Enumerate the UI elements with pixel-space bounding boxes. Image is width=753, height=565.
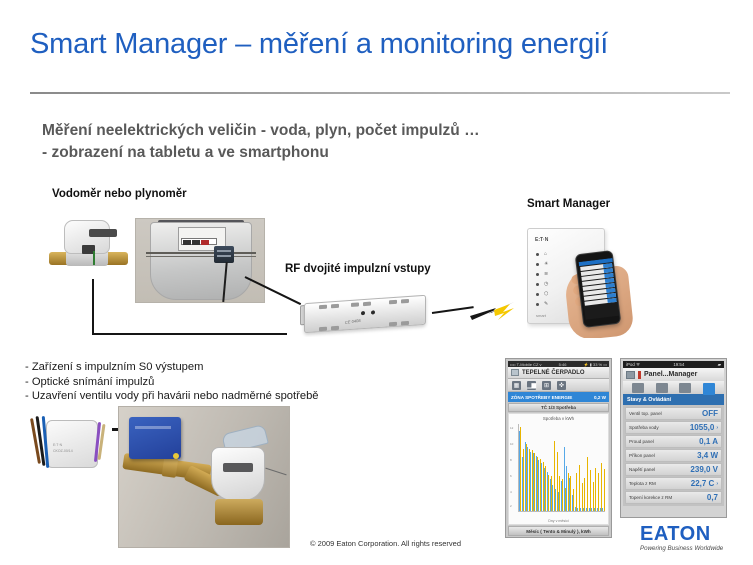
phone-app-header: Panel...Manager [623,368,724,381]
status-row[interactable]: Topení korekce z RM0,7 [625,491,722,504]
wrench-icon[interactable]: ✜ [557,381,566,390]
status-row-label: Proud panel [629,439,654,444]
status-row-value: 0,1 A [699,437,718,446]
status-row-label: Spotřeba vody [629,425,659,430]
tab-bars-icon[interactable] [632,383,644,393]
chart-bar [595,468,596,512]
status-row-value: 0,7 [707,493,718,502]
eaton-logo: EATON Powering Business Worldwide [640,524,745,558]
smartphone-screen [579,258,620,320]
chevron-right-icon[interactable]: › [716,481,718,487]
status-row-value: 1055,0› [690,423,718,432]
rf-signal-bolt-icon [470,300,514,328]
gas-meter-counter [181,238,217,245]
tab-image-icon[interactable] [679,383,691,393]
phone-app-title: Panel...Manager [644,371,697,378]
actuator-module-body: E:T·N CKOZ-00/14 [46,420,98,468]
valve-indicator-icon [173,453,179,459]
bullet-item: - Optické snímání impulzů [25,375,319,390]
smart-manager-footer-text: smart [536,313,546,318]
app-thumbnail-icon [626,371,635,379]
wire-to-rf-link [432,306,474,314]
status-row-value: OFF [702,409,718,418]
grid-icon[interactable]: ▦ [512,381,521,390]
chart-bar [579,465,580,511]
tablet-battery: ⚡ ▮ 33 % ▭ [584,362,607,367]
status-row[interactable]: Příkon panel3,4 W [625,449,722,462]
chart-bar [576,473,577,511]
tiles-icon[interactable]: ⊞ [542,381,551,390]
pipe-union-nut [162,456,179,478]
wire-vertical-left [92,279,94,335]
tab-panel-icon[interactable] [703,383,715,393]
tablet-app-header: TEPELNÉ ČERPADLO [508,367,609,379]
tablet-clock: 5:46 [559,362,567,367]
blue-valve-actuator [129,417,181,459]
tab-trend-icon[interactable] [656,383,668,393]
tablet-app-title: TEPELNÉ ČERPADLO [522,370,585,376]
label-rf-pulse-inputs: RF dvojité impulzní vstupy [285,263,431,275]
chart-title: Spotřeba v kWh [509,414,608,421]
rf-pulse-input-module-photo: CE 0408 [300,295,430,337]
label-smart-manager: Smart Manager [527,198,610,210]
chart-xlabel: Dny v měsíci [509,519,608,523]
rf-button-b-icon [371,310,375,315]
phone-status-bar: iPod ᯤ 19:54 ▰ [623,361,724,368]
status-row-value: 22,7 C› [691,479,718,488]
lead-line-2: - zobrazení na tabletu a ve smartphonu [42,142,480,164]
rf-module-body: CE 0408 [304,295,426,333]
slide-canvas: Smart Manager – měření a monitoring ener… [0,0,753,565]
phone-battery-icon: ▰ [718,362,721,368]
app-thumbnail-icon [511,369,519,376]
status-row-label: Napětí panel [629,467,655,472]
lead-line-1: Měření neelektrických veličin - voda, pl… [42,120,480,142]
chart-bar [604,469,605,511]
lead-paragraph: Měření neelektrických veličin - voda, pl… [42,120,480,164]
status-row-label: Ventil top. panel [629,411,662,416]
zone-label: ZÓNA SPOTŘEBY ENERGIE [511,395,572,400]
chart-bar [582,483,583,511]
tablet-screenshot[interactable]: •••• T-Mobile CZ ᴠ 5:46 ⚡ ▮ 33 % ▭ TEPEL… [505,358,612,538]
chart-bar [598,473,599,511]
chevron-right-icon[interactable]: › [716,425,718,431]
phone-status-list[interactable]: Ventil top. panelOFFSpotřeba vody1055,0›… [623,405,724,506]
status-row[interactable]: Proud panel0,1 A [625,435,722,448]
status-row-label: Příkon panel [629,453,655,458]
chart-bar [584,478,585,511]
valve-actuator-module-photo: E:T·N CKOZ-00/14 [28,410,114,480]
phone-device-label: iPod ᯤ [626,362,640,368]
pulse-module-icon [214,246,234,263]
status-indicator-icon [638,371,641,379]
wire-horizontal-bottom [92,333,287,335]
chart-icon[interactable]: ▁▆ [527,381,536,390]
chart-bar [590,470,591,511]
eaton-wordmark: EATON [640,524,745,544]
page-title: Smart Manager – měření a monitoring ener… [30,28,608,61]
bullet-item: - Uzavření ventilu vody při havárii nebo… [25,389,319,404]
tablet-status-bar: •••• T-Mobile CZ ᴠ 5:46 ⚡ ▮ 33 % ▭ [508,361,609,367]
status-row[interactable]: Spotřeba vody1055,0› [625,421,722,434]
smart-manager-device-photo: E:T·N ⌂ ☀ ≋ ◷ ⬡ ✎ smart [527,228,637,338]
phone-screenshot[interactable]: iPod ᯤ 19:54 ▰ Panel...Manager Stavy & O… [620,358,727,518]
status-row-label: Teplota z RM [629,481,656,486]
tablet-zone-band[interactable]: ZÓNA SPOTŘEBY ENERGIE 0,2 W [508,392,609,402]
eaton-tagline: Powering Business Worldwide [640,545,745,552]
status-row[interactable]: Napětí panel239,0 V [625,463,722,476]
label-water-gas-meter: Vodoměr nebo plynoměr [52,188,187,200]
status-row-value: 3,4 W [697,451,718,460]
water-meter-photo [48,218,130,280]
chart-bar [601,463,602,511]
smartphone-in-hand [575,250,622,328]
zone-value: 0,2 W [594,395,606,400]
tablet-carrier: •••• T-Mobile CZ ᴠ [510,362,542,367]
status-row[interactable]: Teplota z RM22,7 C› [625,477,722,490]
status-row[interactable]: Ventil top. panelOFF [625,407,722,420]
phone-clock: 19:54 [673,362,684,367]
tablet-footer-button[interactable]: Měsíc ( Tento & Minulý ), kWh [508,526,609,536]
water-meter-register [223,463,253,472]
status-row-label: Topení korekce z RM [629,495,672,500]
water-meter-dial [89,229,117,237]
eaton-logo-small: E:T·N [535,237,548,243]
tablet-subheader[interactable]: TČ 1/3 Spotřeba [508,403,609,412]
title-divider [30,92,730,94]
bullet-item: - Zařízení s impulzním S0 výstupem [25,360,319,375]
phone-section-title: Stavy & Ovládání [623,394,724,405]
bullet-list: - Zařízení s impulzním S0 výstupem - Opt… [25,360,319,404]
phone-tab-bar[interactable] [623,381,724,394]
water-meter-wire [93,251,95,265]
copyright-text: © 2009 Eaton Corporation. All rights res… [310,539,461,548]
water-valve-installation-photo [118,406,290,548]
water-meter-unit [211,447,265,501]
gas-meter-strap-2 [146,256,256,257]
chart-bar [587,457,588,511]
gas-meter-photo [135,218,265,303]
water-meter-brass-base [215,499,263,525]
rf-button-a-icon [361,311,365,316]
status-row-value: 239,0 V [690,465,718,474]
gas-meter-strap [146,252,256,254]
chart-bar [593,482,594,511]
consumption-chart: Spotřeba v kWh 12 10 8 6 4 2 Dny v měsíc… [508,413,609,525]
tablet-toolbar[interactable]: ▦ ▁▆ ⊞ ✜ [508,379,609,392]
chart-plot-area [518,424,605,512]
